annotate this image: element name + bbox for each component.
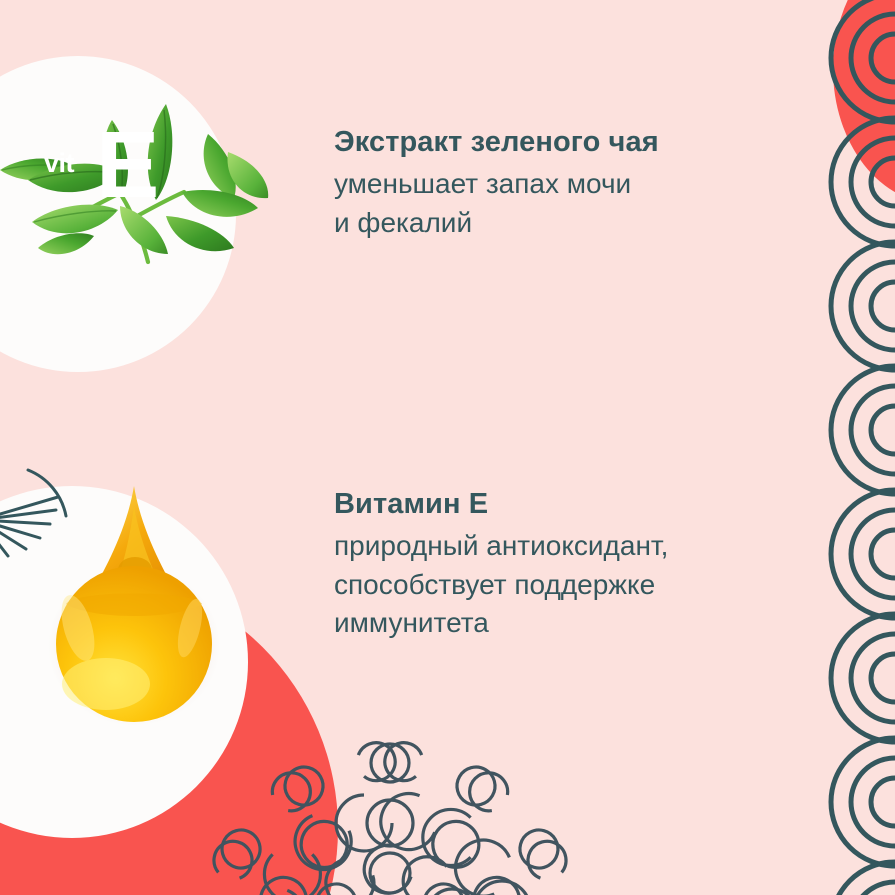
vitamin-e-droplet-icon (30, 478, 240, 728)
feature-title-green-tea: Экстракт зеленого чая (334, 124, 804, 161)
feature-vitamin-e: Витамин Е природный антиоксидант, способ… (334, 486, 814, 643)
droplet-label-e: E (96, 118, 159, 213)
red-blob-top-right (833, 0, 895, 204)
promo-poster: vit E (0, 0, 895, 895)
feature-green-tea-extract: Экстракт зеленого чая уменьшает запах мо… (334, 124, 804, 242)
feature-description-vitamin-e: природный антиоксидант, способствует под… (334, 527, 814, 643)
droplet-label-vit: vit (44, 148, 74, 179)
feature-description-green-tea: уменьшает запах мочи и фекалий (334, 165, 804, 242)
feature-title-vitamin-e: Витамин Е (334, 486, 814, 523)
